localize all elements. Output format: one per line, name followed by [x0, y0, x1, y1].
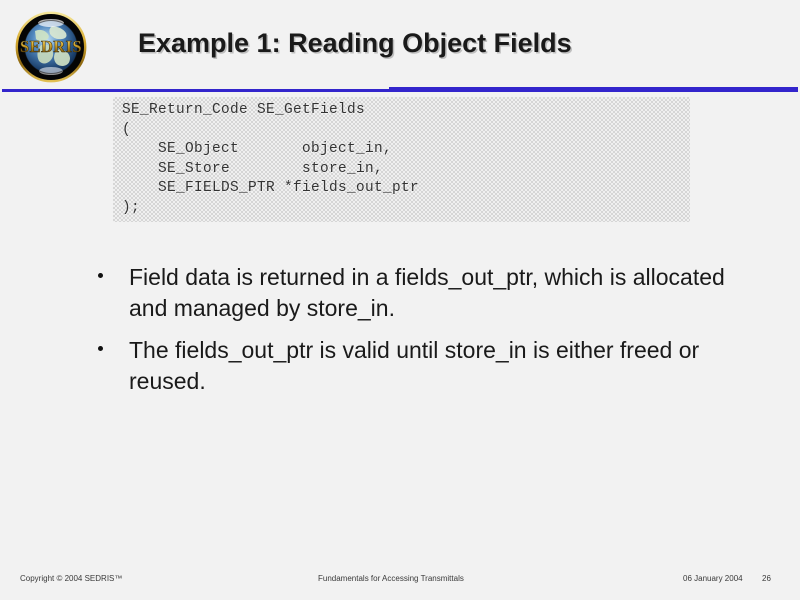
- footer-copyright: Copyright © 2004 SEDRIS™: [20, 574, 122, 583]
- slide-header: SEDRIS Example 1: Reading Object Fields: [0, 0, 800, 92]
- footer-page-number: 26: [762, 574, 771, 583]
- title-divider-right: [389, 87, 798, 92]
- list-item: Field data is returned in a fields_out_p…: [95, 262, 735, 324]
- page-title: Example 1: Reading Object Fields: [138, 28, 572, 59]
- footer-date: 06 January 2004: [683, 574, 743, 583]
- footer-course-title: Fundamentals for Accessing Transmittals: [318, 574, 464, 583]
- list-item: The fields_out_ptr is valid until store_…: [95, 335, 735, 397]
- bullet-list: Field data is returned in a fields_out_p…: [95, 262, 735, 408]
- list-item-label: Field data is returned in a fields_out_p…: [129, 262, 735, 324]
- list-item-label: The fields_out_ptr is valid until store_…: [129, 335, 735, 397]
- bullet-point-icon: [98, 346, 103, 351]
- sedris-logo-icon: SEDRIS: [8, 11, 94, 83]
- svg-text:SEDRIS: SEDRIS: [20, 37, 82, 56]
- slide: SEDRIS Example 1: Reading Object Fields …: [0, 0, 800, 600]
- code-snippet: SE_Return_Code SE_GetFields ( SE_Object …: [122, 101, 419, 218]
- slide-footer: Copyright © 2004 SEDRIS™ Fundamentals fo…: [0, 570, 800, 592]
- code-block: SE_Return_Code SE_GetFields ( SE_Object …: [113, 97, 690, 222]
- bullet-point-icon: [98, 273, 103, 278]
